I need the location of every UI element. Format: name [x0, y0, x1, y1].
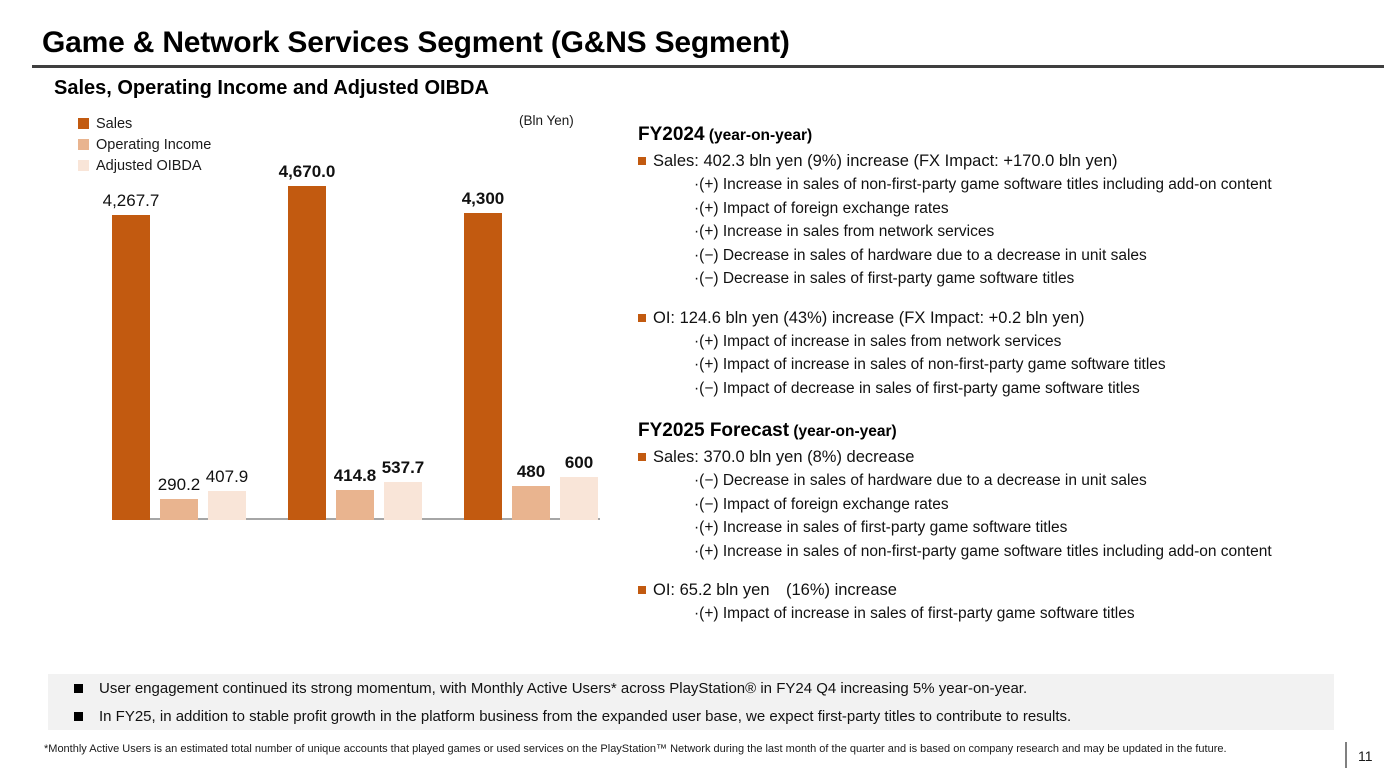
- page-number-divider: [1345, 742, 1347, 768]
- section-heading-sub: (year-on-year): [705, 127, 813, 144]
- commentary-subbullet: ·(−) Impact of foreign exchange rates: [694, 493, 1390, 517]
- legend-label-adjusted-oibda: Adjusted OIBDA: [96, 158, 202, 174]
- commentary-bullet: OI: 124.6 bln yen (43%) increase (FX Imp…: [638, 307, 1390, 330]
- commentary-subbullet: ·(−) Decrease in sales of hardware due t…: [694, 244, 1390, 268]
- section-heading-main: FY2025 Forecast: [638, 420, 789, 441]
- bullet-square-icon: [638, 157, 646, 165]
- commentary-bullet-text: OI: 65.2 bln yen (16%) increase: [653, 579, 897, 602]
- commentary-bullet: Sales: 370.0 bln yen (8%) decrease: [638, 446, 1390, 469]
- bullet-square-icon: [74, 712, 83, 721]
- bar-fy25-fct-operating-income: [512, 486, 550, 520]
- commentary-subbullet: ·(+) Increase in sales from network serv…: [694, 220, 1390, 244]
- highlight-callout: User engagement continued its strong mom…: [48, 674, 1334, 730]
- callout-text: In FY25, in addition to stable profit gr…: [99, 708, 1071, 725]
- title-divider: [32, 65, 1384, 68]
- commentary-subbullet: ·(−) Impact of decrease in sales of firs…: [694, 377, 1390, 401]
- legend-swatch-operating-income: [78, 139, 89, 150]
- commentary-panel: FY2024 (year-on-year)Sales: 402.3 bln ye…: [638, 124, 1390, 626]
- footnote: *Monthly Active Users is an estimated to…: [44, 742, 1259, 756]
- bar-fy25-fct-adjusted-oibda: [560, 477, 598, 520]
- bar-value-label: 600: [504, 453, 654, 473]
- bar-fy23-adjusted-oibda: [208, 491, 246, 520]
- chart-subtitle: Sales, Operating Income and Adjusted OIB…: [54, 77, 489, 100]
- legend-item-operating-income: Operating Income: [78, 134, 211, 155]
- bar-value-label: 4,267.7: [56, 191, 206, 211]
- commentary-subbullet: ·(+) Impact of increase in sales of non-…: [694, 353, 1390, 377]
- bullet-square-icon: [74, 684, 83, 693]
- callout-text: User engagement continued its strong mom…: [99, 680, 1027, 697]
- commentary-subbullet: ·(+) Impact of foreign exchange rates: [694, 197, 1390, 221]
- commentary-subbullet: ·(+) Increase in sales of non-first-part…: [694, 540, 1390, 564]
- chart-legend: Sales Operating Income Adjusted OIBDA: [78, 113, 211, 176]
- legend-swatch-sales: [78, 118, 89, 129]
- commentary-subbullet: ·(+) Impact of increase in sales of firs…: [694, 602, 1390, 626]
- commentary-subbullet: ·(+) Impact of increase in sales from ne…: [694, 330, 1390, 354]
- commentary-subbullet: ·(+) Increase in sales of first-party ga…: [694, 516, 1390, 540]
- commentary-subbullet: ·(−) Decrease in sales of hardware due t…: [694, 469, 1390, 493]
- bullet-square-icon: [638, 314, 646, 322]
- section-heading-main: FY2024: [638, 124, 705, 145]
- page-number: 11: [1358, 748, 1373, 764]
- callout-row: User engagement continued its strong mom…: [48, 674, 1334, 702]
- commentary-subbullet: ·(+) Increase in sales of non-first-part…: [694, 173, 1390, 197]
- page-title: Game & Network Services Segment (G&NS Se…: [42, 26, 790, 60]
- section-heading: FY2024 (year-on-year): [638, 124, 1390, 146]
- slide: Game & Network Services Segment (G&NS Se…: [0, 0, 1392, 778]
- legend-label-operating-income: Operating Income: [96, 137, 211, 153]
- bar-fy23-operating-income: [160, 499, 198, 520]
- commentary-bullet-text: OI: 124.6 bln yen (43%) increase (FX Imp…: [653, 307, 1085, 330]
- bar-fy24-adjusted-oibda: [384, 482, 422, 520]
- chart-unit-label: (Bln Yen): [519, 113, 574, 128]
- bullet-square-icon: [638, 586, 646, 594]
- bar-fy23-sales: [112, 215, 150, 520]
- commentary-subbullet: ·(−) Decrease in sales of first-party ga…: [694, 267, 1390, 291]
- bar-value-label: 4,670.0: [232, 162, 382, 182]
- bar-chart: 4,267.7290.2407.94,670.0414.8537.74,3004…: [112, 190, 600, 520]
- bar-value-label: 4,300: [408, 189, 558, 209]
- commentary-bullet: Sales: 402.3 bln yen (9%) increase (FX I…: [638, 150, 1390, 173]
- section-heading: FY2025 Forecast (year-on-year): [638, 420, 1390, 442]
- callout-row: In FY25, in addition to stable profit gr…: [48, 702, 1334, 730]
- section-heading-sub: (year-on-year): [789, 423, 897, 440]
- commentary-bullet-text: Sales: 402.3 bln yen (9%) increase (FX I…: [653, 150, 1118, 173]
- legend-item-sales: Sales: [78, 113, 211, 134]
- bullet-square-icon: [638, 453, 646, 461]
- bar-fy24-operating-income: [336, 490, 374, 520]
- legend-label-sales: Sales: [96, 116, 132, 132]
- legend-item-adjusted-oibda: Adjusted OIBDA: [78, 155, 211, 176]
- commentary-bullet: OI: 65.2 bln yen (16%) increase: [638, 579, 1390, 602]
- commentary-bullet-text: Sales: 370.0 bln yen (8%) decrease: [653, 446, 914, 469]
- legend-swatch-adjusted-oibda: [78, 160, 89, 171]
